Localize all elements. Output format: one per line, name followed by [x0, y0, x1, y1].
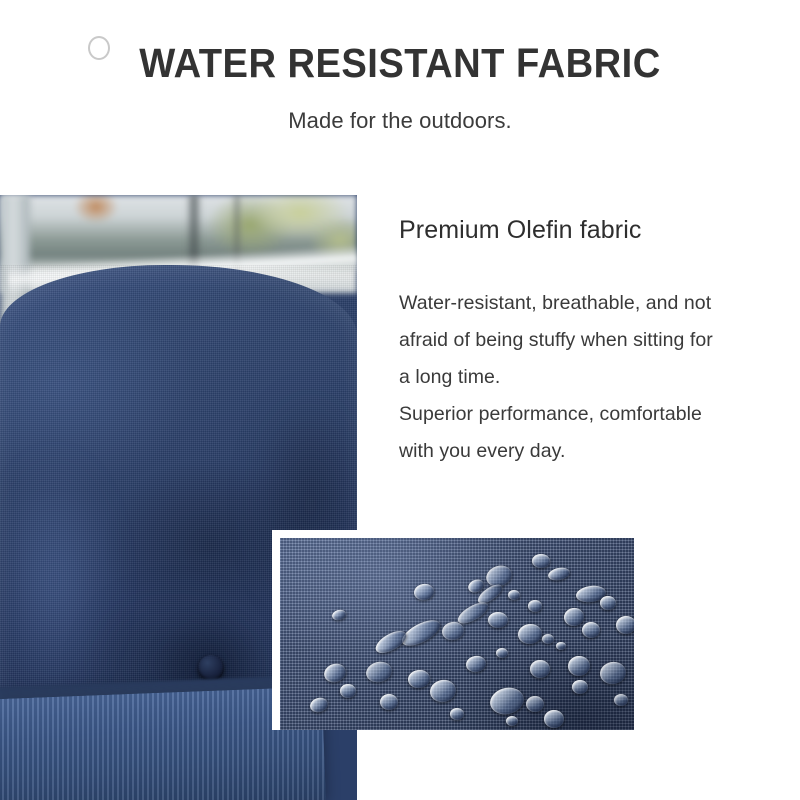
water-droplet-inset-frame: [272, 530, 634, 730]
feature-body-line-2: afraid of being stuffy when sitting for: [399, 322, 771, 359]
page-title: WATER RESISTANT FABRIC: [28, 40, 772, 87]
water-droplet: [614, 694, 628, 706]
feature-body-line-4: Superior performance, comfortable: [399, 396, 771, 433]
feature-heading: Premium Olefin fabric: [399, 216, 771, 245]
water-droplet: [556, 642, 566, 650]
water-droplet: [496, 648, 508, 658]
water-droplet: [528, 600, 542, 612]
water-droplet: [582, 622, 600, 638]
water-droplet: [532, 554, 550, 568]
feature-body: Water-resistant, breathable, and not afr…: [399, 285, 771, 470]
water-droplet: [488, 612, 508, 628]
water-droplet-photo: [280, 538, 634, 730]
feature-text-column: Premium Olefin fabric Water-resistant, b…: [399, 216, 771, 470]
water-droplet: [380, 694, 398, 710]
water-droplet: [340, 684, 356, 698]
water-droplet: [508, 590, 520, 600]
water-droplet: [506, 716, 518, 726]
water-droplet: [544, 710, 564, 728]
water-droplet: [526, 696, 544, 712]
page-subtitle: Made for the outdoors.: [0, 108, 800, 134]
water-droplet: [572, 680, 588, 694]
water-droplet: [600, 596, 616, 610]
water-droplet: [530, 660, 550, 678]
feature-body-line-3: a long time.: [399, 359, 771, 396]
feature-body-line-1: Water-resistant, breathable, and not: [399, 285, 771, 322]
header: WATER RESISTANT FABRIC Made for the outd…: [0, 0, 800, 180]
product-feature-page: WATER RESISTANT FABRIC Made for the outd…: [0, 0, 800, 800]
water-droplet: [542, 634, 554, 644]
water-droplet: [450, 708, 464, 720]
feature-body-line-5: with you every day.: [399, 433, 771, 470]
cushion-tuft-button: [198, 655, 224, 681]
